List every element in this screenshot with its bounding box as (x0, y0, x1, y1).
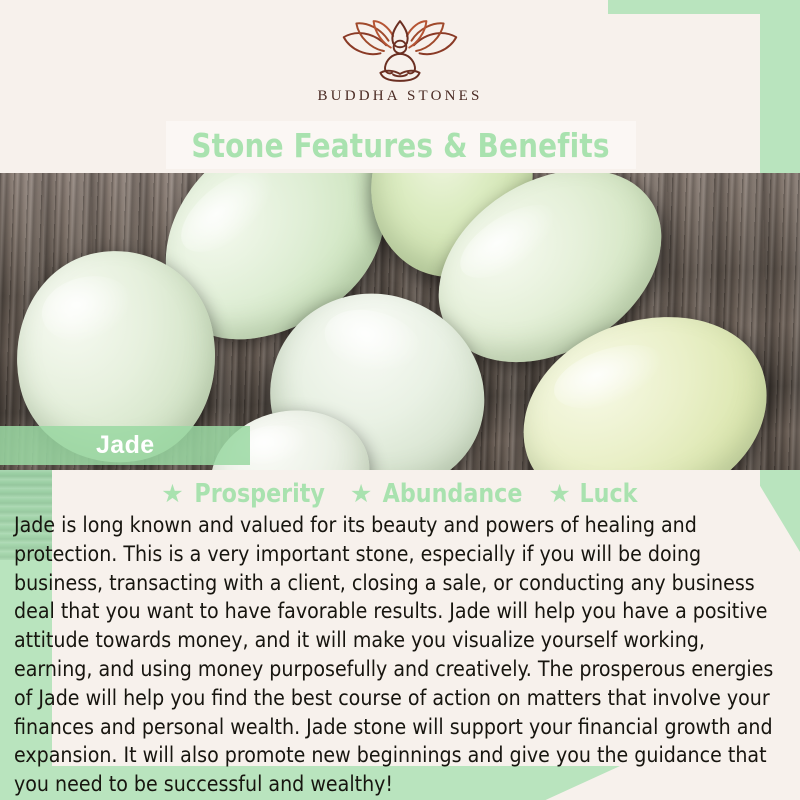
keyword-list: ★ Prosperity ★ Abundance ★ Luck (0, 479, 800, 509)
keyword-item: ★ Luck (548, 479, 638, 509)
keyword-item: ★ Abundance (350, 479, 527, 509)
stone-name-label: Jade (96, 431, 155, 460)
keyword-item: ★ Prosperity (161, 479, 328, 509)
title-banner: Stone Features & Benefits (166, 121, 636, 169)
star-icon: ★ (161, 482, 183, 507)
page-title: Stone Features & Benefits (192, 126, 610, 165)
keyword-label: Prosperity (194, 479, 324, 509)
brand-header: BUDDHA STONES (0, 0, 800, 118)
brand-wordmark: BUDDHA STONES (317, 88, 482, 105)
lotus-meditation-icon (330, 20, 470, 82)
star-icon: ★ (350, 482, 372, 507)
keyword-label: Abundance (383, 479, 523, 509)
star-icon: ★ (548, 482, 570, 507)
keyword-label: Luck (579, 479, 637, 509)
stone-name-ribbon: Jade (0, 426, 250, 465)
stone-description: Jade is long known and valued for its be… (14, 512, 776, 800)
infographic-page: BUDDHA STONES Stone Features & Benefits … (0, 0, 800, 800)
